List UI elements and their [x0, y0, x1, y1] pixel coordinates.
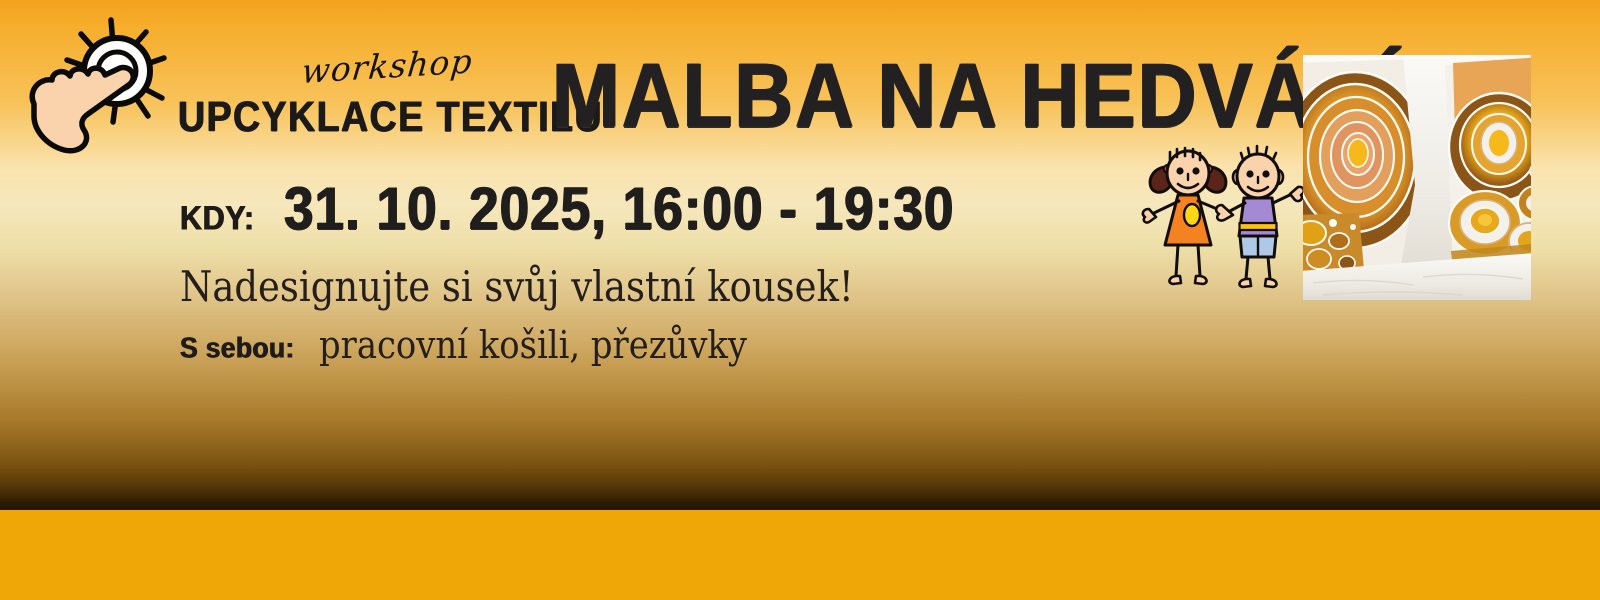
when-row: KDY: 31. 10. 2025, 16:00 - 19:30 [180, 178, 990, 243]
bring-label: S sebou: [180, 332, 295, 365]
tagline: Nadesignujte si svůj vlastní kousek! [180, 262, 854, 311]
girl-left-leg [1176, 245, 1178, 276]
series-title: UPCYKLACE TEXTILU [178, 94, 603, 142]
when-label: KDY: [180, 198, 255, 238]
workshop-banner: workshop UPCYKLACE TEXTILU MALBA NA HEDV… [0, 0, 1600, 600]
bring-row: S sebou: pracovní košili, přezůvky [180, 323, 800, 367]
boy-right-foot [1265, 279, 1277, 287]
girl-right-leg [1198, 245, 1200, 276]
page-title: MALBA NA HEDVÁBÍ [552, 50, 1401, 141]
girl-dress-pocket [1184, 204, 1200, 226]
girl-left-hand [1143, 209, 1156, 223]
girl-left-eye [1176, 167, 1183, 174]
bottom-color-band [0, 510, 1600, 600]
boy-left-eye [1246, 170, 1253, 177]
boy-left-leg [1246, 257, 1248, 279]
girl-right-foot [1195, 276, 1207, 284]
held-hands [1216, 205, 1233, 220]
boy-right-eye [1262, 170, 1269, 177]
boy-belt [1240, 223, 1277, 230]
girl-left-foot [1169, 276, 1181, 284]
boy-right-hand [1290, 187, 1304, 201]
pointing-hand-click-icon [12, 8, 192, 156]
boy-left-foot [1239, 279, 1251, 287]
two-children-holding-hands-illustration [1138, 143, 1306, 289]
girl-right-eye [1192, 167, 1199, 174]
silk-painted-cushions-photo [1303, 55, 1531, 300]
when-value: 31. 10. 2025, 16:00 - 19:30 [284, 173, 954, 243]
boy-right-leg [1268, 257, 1270, 279]
bring-value: pracovní košili, přezůvky [319, 323, 747, 367]
